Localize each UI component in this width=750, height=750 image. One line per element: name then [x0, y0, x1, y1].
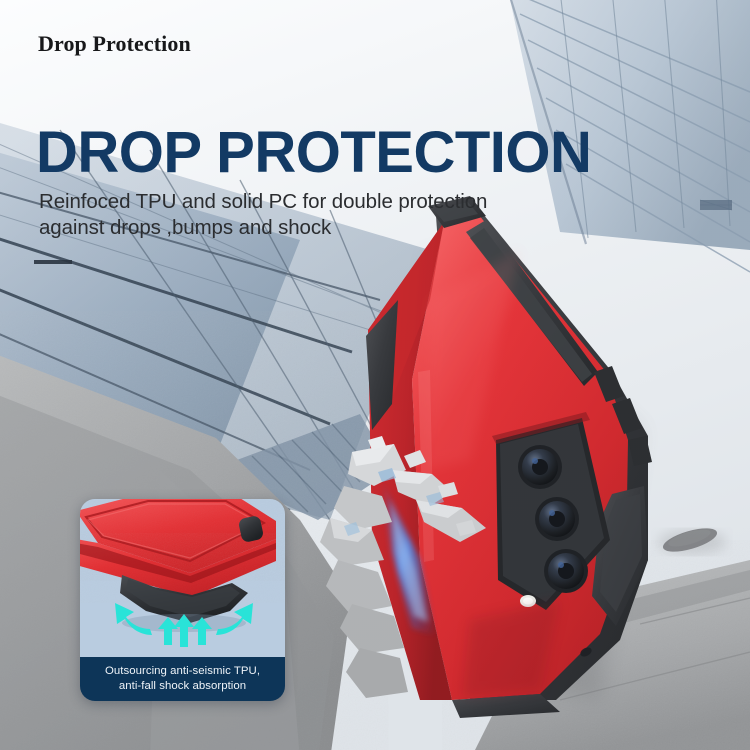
inset-caption-bar: Outsourcing anti-seismic TPU, anti-fall … [80, 657, 285, 701]
page-title: DROP PROTECTION [36, 124, 591, 182]
drop-protection-inset: Outsourcing anti-seismic TPU, anti-fall … [80, 499, 285, 701]
subtitle-description: Reinfoced TPU and solid PC for double pr… [39, 189, 487, 241]
eyebrow-label: Drop Protection [38, 31, 191, 57]
drop-protection-poster: Drop Protection DROP PROTECTION Reinfoce… [0, 0, 750, 750]
inset-caption-text: Outsourcing anti-seismic TPU, anti-fall … [105, 664, 260, 694]
inset-illustration [80, 499, 285, 657]
